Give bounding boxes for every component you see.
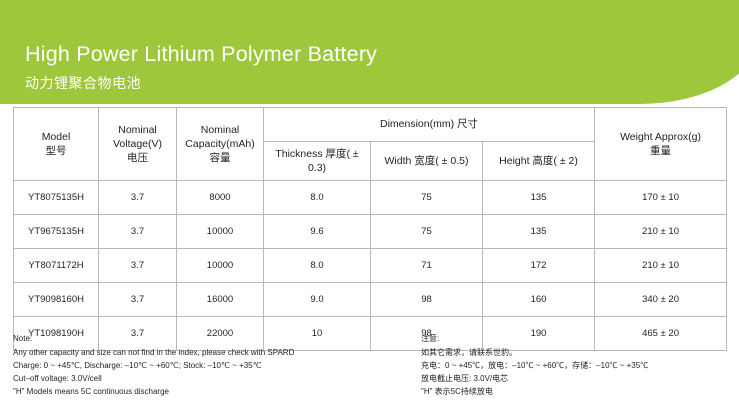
column-header-weight: Weight Approx(g) 重量 bbox=[595, 108, 727, 181]
spec-table-container: Model 型号 Nominal Voltage(V) 电压 Nominal C… bbox=[13, 107, 726, 351]
notes-chinese: 注意: 如其它需求，请联系世豹。 充电：0 ~ +45℃，放电：–10℃ ~ +… bbox=[421, 333, 721, 399]
voltage-header-cn: 电压 bbox=[127, 152, 148, 164]
table-row: YT8071172H 3.7 10000 8.0 71 172 210 ± 10 bbox=[14, 249, 727, 283]
capacity-header-en: Nominal Capacity(mAh) bbox=[185, 124, 254, 150]
weight-header-en: Weight Approx(g) bbox=[620, 131, 701, 143]
cell-thickness: 9.0 bbox=[264, 283, 371, 317]
cell-voltage: 3.7 bbox=[99, 283, 177, 317]
cell-height: 135 bbox=[483, 215, 595, 249]
cell-thickness: 8.0 bbox=[264, 181, 371, 215]
cell-height: 135 bbox=[483, 181, 595, 215]
table-head: Model 型号 Nominal Voltage(V) 电压 Nominal C… bbox=[14, 108, 727, 181]
column-header-capacity: Nominal Capacity(mAh) 容量 bbox=[177, 108, 264, 181]
notes-en-line-3: Cut–off voltage: 3.0V/cell bbox=[13, 373, 413, 386]
table-row: YT9098160H 3.7 16000 9.0 98 160 340 ± 20 bbox=[14, 283, 727, 317]
table-row: YT8075135H 3.7 8000 8.0 75 135 170 ± 10 bbox=[14, 181, 727, 215]
cell-weight: 170 ± 10 bbox=[595, 181, 727, 215]
capacity-header-cn: 容量 bbox=[210, 152, 231, 164]
cell-height: 172 bbox=[483, 249, 595, 283]
page-header: High Power Lithium Polymer Battery 动力锂聚合… bbox=[0, 0, 739, 104]
notes-cn-line-4: "H" 表示5C持续放电 bbox=[421, 386, 721, 399]
page-title: High Power Lithium Polymer Battery bbox=[25, 42, 377, 67]
cell-width: 75 bbox=[371, 215, 483, 249]
cell-model: YT8071172H bbox=[14, 249, 99, 283]
model-header-cn: 型号 bbox=[46, 145, 67, 157]
cell-width: 98 bbox=[371, 283, 483, 317]
cell-capacity: 8000 bbox=[177, 181, 264, 215]
column-header-width: Width 宽度( ± 0.5) bbox=[371, 142, 483, 181]
model-header-en: Model bbox=[42, 131, 71, 143]
weight-header-cn: 重量 bbox=[650, 145, 671, 157]
notes-en-line-4: "H" Models means 5C continuous discharge bbox=[13, 386, 413, 399]
column-header-voltage: Nominal Voltage(V) 电压 bbox=[99, 108, 177, 181]
cell-height: 160 bbox=[483, 283, 595, 317]
cell-voltage: 3.7 bbox=[99, 215, 177, 249]
page-subtitle: 动力锂聚合物电池 bbox=[25, 73, 141, 93]
column-header-model: Model 型号 bbox=[14, 108, 99, 181]
cell-capacity: 10000 bbox=[177, 215, 264, 249]
column-header-height: Height 高度( ± 2) bbox=[483, 142, 595, 181]
cell-weight: 210 ± 10 bbox=[595, 249, 727, 283]
notes-english: Note: Any other capacity and size can no… bbox=[13, 333, 413, 399]
cell-model: YT9098160H bbox=[14, 283, 99, 317]
notes-cn-line-1: 如其它需求，请联系世豹。 bbox=[421, 347, 721, 360]
cell-width: 75 bbox=[371, 181, 483, 215]
notes-cn-line-2: 充电：0 ~ +45℃，放电：–10℃ ~ +60℃，存储：–10℃ ~ +35… bbox=[421, 360, 721, 373]
notes-en-title: Note: bbox=[13, 333, 413, 346]
header-row-1: Model 型号 Nominal Voltage(V) 电压 Nominal C… bbox=[14, 108, 727, 142]
cell-capacity: 16000 bbox=[177, 283, 264, 317]
notes-cn-title: 注意: bbox=[421, 333, 721, 346]
cell-weight: 210 ± 10 bbox=[595, 215, 727, 249]
voltage-header-en: Nominal Voltage(V) bbox=[113, 124, 162, 150]
cell-thickness: 8.0 bbox=[264, 249, 371, 283]
column-header-dimension: Dimension(mm) 尺寸 bbox=[264, 108, 595, 142]
cell-thickness: 9.6 bbox=[264, 215, 371, 249]
cell-model: YT9675135H bbox=[14, 215, 99, 249]
cell-capacity: 10000 bbox=[177, 249, 264, 283]
notes-cn-line-3: 放电截止电压: 3.0V/电芯 bbox=[421, 373, 721, 386]
table-body: YT8075135H 3.7 8000 8.0 75 135 170 ± 10 … bbox=[14, 181, 727, 351]
cell-width: 71 bbox=[371, 249, 483, 283]
column-header-thickness: Thickness 厚度( ± 0.3) bbox=[264, 142, 371, 181]
table-row: YT9675135H 3.7 10000 9.6 75 135 210 ± 10 bbox=[14, 215, 727, 249]
cell-voltage: 3.7 bbox=[99, 249, 177, 283]
battery-spec-table: Model 型号 Nominal Voltage(V) 电压 Nominal C… bbox=[13, 107, 727, 351]
notes-en-line-1: Any other capacity and size can not find… bbox=[13, 347, 413, 360]
cell-weight: 340 ± 20 bbox=[595, 283, 727, 317]
cell-voltage: 3.7 bbox=[99, 181, 177, 215]
cell-model: YT8075135H bbox=[14, 181, 99, 215]
notes-en-line-2: Charge: 0 ~ +45℃, Discharge: –10℃ ~ +60℃… bbox=[13, 360, 413, 373]
